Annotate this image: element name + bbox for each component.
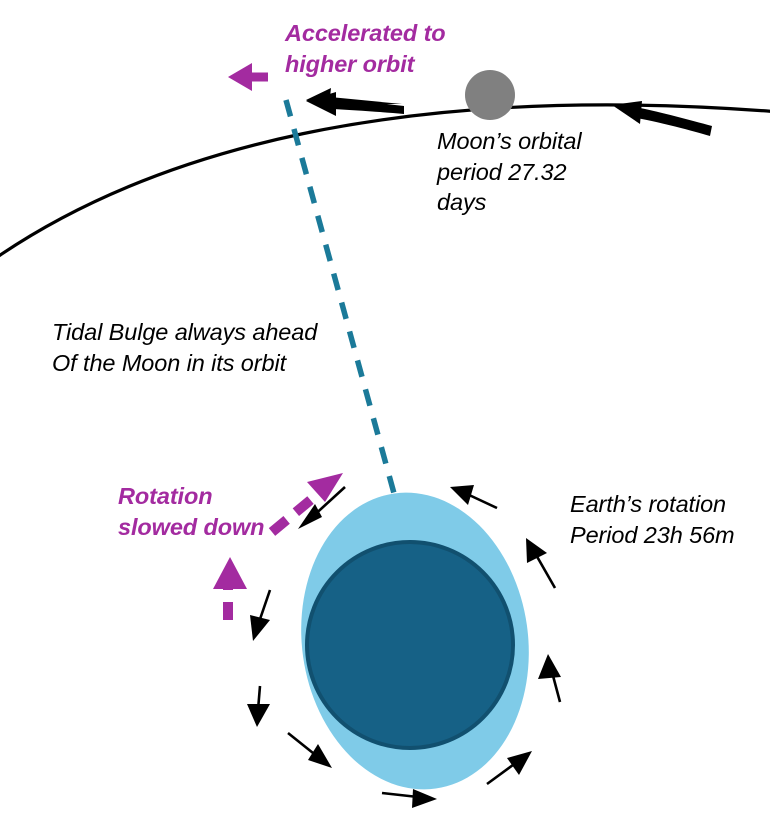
rotation-arrow-9 [450, 485, 497, 508]
rotation-arrow-8 [526, 538, 555, 588]
rotation-arrow-5 [382, 789, 437, 808]
label-earth-rotation-period: Earth’s rotation Period 23h 56m [570, 489, 770, 550]
label-tidal-bulge: Tidal Bulge always ahead Of the Moon in … [52, 317, 382, 378]
label-moon-orbital-period: Moon’s orbital period 27.32 days [437, 126, 667, 218]
rotation-arrow-2 [250, 590, 270, 641]
tidal-locking-diagram: Accelerated to higher orbit Moon’s orbit… [0, 0, 770, 814]
rotation-arrow-3 [247, 686, 270, 727]
accelerated-arrow [228, 63, 268, 91]
earth [307, 542, 513, 748]
rotation-arrow-4 [288, 733, 332, 768]
label-accelerated-to-higher-orbit: Accelerated to higher orbit [285, 18, 585, 79]
rotation-arrow-6 [487, 751, 532, 784]
diagram-canvas [0, 0, 770, 814]
label-rotation-slowed-down: Rotation slowed down [118, 481, 358, 542]
orbit-direction-arrow-left [306, 88, 404, 116]
rotation-arrow-7 [538, 654, 561, 702]
rotation-slowed-arrow-lower [213, 557, 247, 620]
